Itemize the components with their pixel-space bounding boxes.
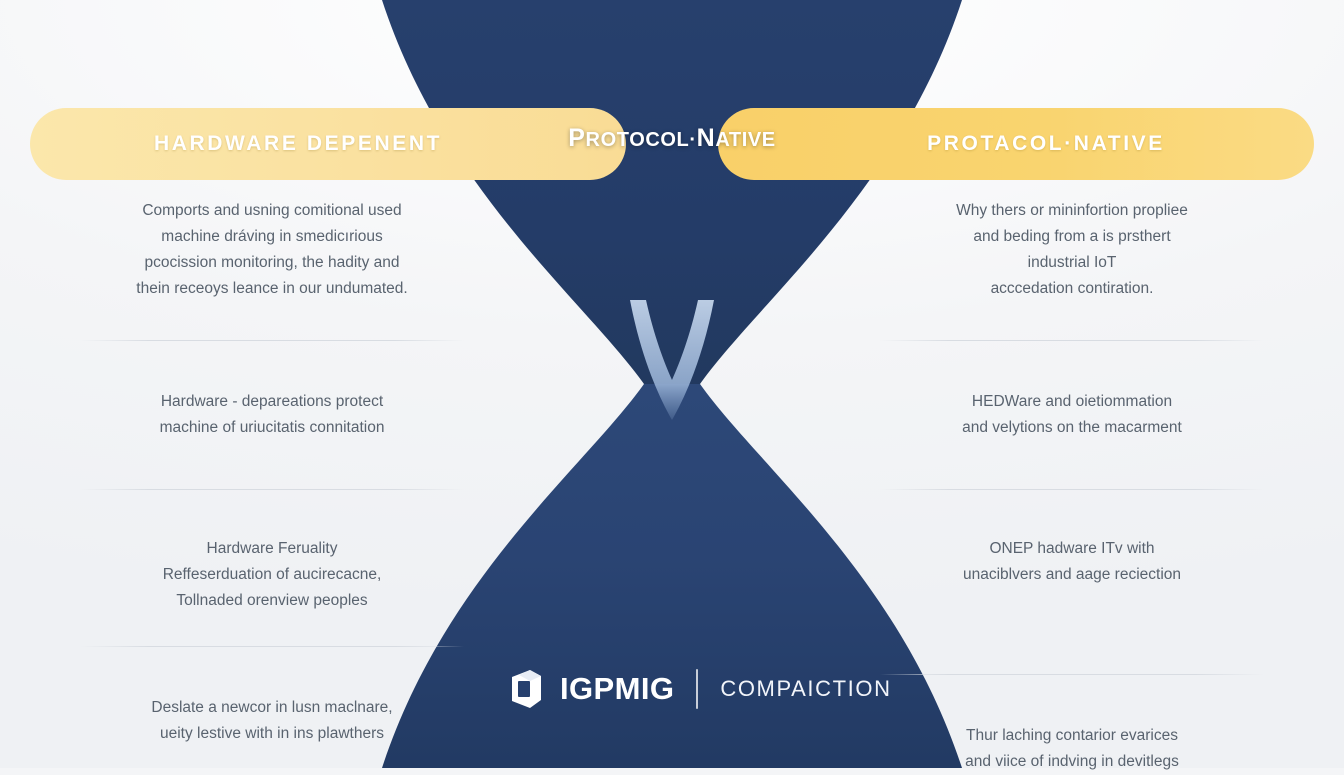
left-divider-2	[80, 646, 464, 647]
right-spacer-2	[872, 441, 1272, 473]
center-title-p1-cap: P	[568, 124, 585, 152]
center-title-protocol-native: PROTOCOL·NATIVE	[472, 124, 872, 153]
center-title-p2-cap: N	[697, 124, 716, 152]
left-divider-1	[80, 489, 464, 490]
right-divider-1	[880, 489, 1264, 490]
left-block-0-line-0: Comports and usning comitional used	[76, 198, 468, 224]
right-block-1-line-1: and velytions on the macarment	[876, 415, 1268, 441]
right-block-2-line-0: ONEP hadware ITv with	[876, 536, 1268, 562]
left-block-2-line-1: Reffeserduation of aucirecacne,	[76, 562, 468, 588]
left-spacer-2	[72, 441, 472, 473]
left-spacer-5	[72, 663, 472, 695]
right-block-0-line-0: Why thers or mininfortion propliee	[876, 198, 1268, 224]
left-block-2-line-0: Hardware Feruality	[76, 536, 468, 562]
right-block-2-line-1: unaciblvers and aage reciection	[876, 562, 1268, 588]
left-block-0-line-3: thein receoys leance in our undumated.	[76, 276, 468, 302]
right-spacer-0	[872, 308, 1272, 324]
right-spacer-4	[872, 614, 1272, 658]
left-block-0-line-1: machine dráving in smedicırious	[76, 224, 468, 250]
right-block-3: Thur laching contarior evarices and viic…	[872, 723, 1272, 775]
left-block-0: Comports and usning comitional used mach…	[72, 196, 472, 308]
infographic-canvas: HARDWARE DEPENENT PROTACOL·NATIVE PROTOC…	[0, 0, 1344, 768]
right-block-0: Why thers or mininfortion propliee and b…	[872, 196, 1272, 308]
center-title-dot: ·	[689, 129, 696, 151]
footer-brand: IGPMIG COMPAICTION	[508, 666, 892, 712]
right-spacer-5	[872, 691, 1272, 723]
left-block-3: Deslate a newcor in lusn maclnare, ueity…	[72, 695, 472, 747]
right-divider-0	[880, 340, 1264, 341]
brand-separator	[696, 669, 698, 709]
left-block-1: Hardware - depareations protect machine …	[72, 389, 472, 441]
isometric-cube-icon	[508, 669, 544, 709]
right-divider-2	[880, 674, 1264, 675]
left-column: Comports and usning comitional used mach…	[72, 196, 472, 747]
left-divider-0	[80, 340, 464, 341]
left-spacer-4	[72, 614, 472, 630]
left-spacer-3	[72, 506, 472, 536]
right-block-3-line-1: and viice of indving in devitlegs	[876, 749, 1268, 775]
left-block-3-line-0: Deslate a newcor in lusn maclnare,	[76, 695, 468, 721]
right-spacer-1	[872, 357, 1272, 389]
left-spacer-1	[72, 357, 472, 389]
right-block-0-line-3: acccedation contiration.	[876, 276, 1268, 302]
left-block-1-line-1: machine of uriucitatis connitation	[76, 415, 468, 441]
left-block-1-line-0: Hardware - depareations protect	[76, 389, 468, 415]
brand-name: IGPMIG	[560, 671, 674, 707]
left-block-0-line-2: pcocission monitoring, the hadity and	[76, 250, 468, 276]
left-block-3-line-1: ueity lestive with in ins plawthers	[76, 721, 468, 747]
right-column: Why thers or mininfortion propliee and b…	[872, 196, 1272, 775]
right-block-2: ONEP hadware ITv with unaciblvers and aa…	[872, 536, 1272, 614]
brand-subtitle: COMPAICTION	[720, 676, 891, 702]
center-title-p2-rest: ATIVE	[715, 129, 775, 151]
right-block-0-line-2: industrial IoT	[876, 250, 1268, 276]
left-block-2-line-2: Tollnaded orenview peoples	[76, 588, 468, 614]
right-block-3-line-0: Thur laching contarior evarices	[876, 723, 1268, 749]
left-block-2: Hardware Feruality Reffeserduation of au…	[72, 536, 472, 614]
left-spacer-0	[72, 308, 472, 324]
center-title-p1-rest: ROTOCOL	[586, 129, 690, 151]
right-spacer-3	[872, 506, 1272, 536]
right-block-1-line-0: HEDWare and oietiommation	[876, 389, 1268, 415]
right-block-1: HEDWare and oietiommation and velytions …	[872, 389, 1272, 441]
right-block-0-line-1: and beding from a is prsthert	[876, 224, 1268, 250]
